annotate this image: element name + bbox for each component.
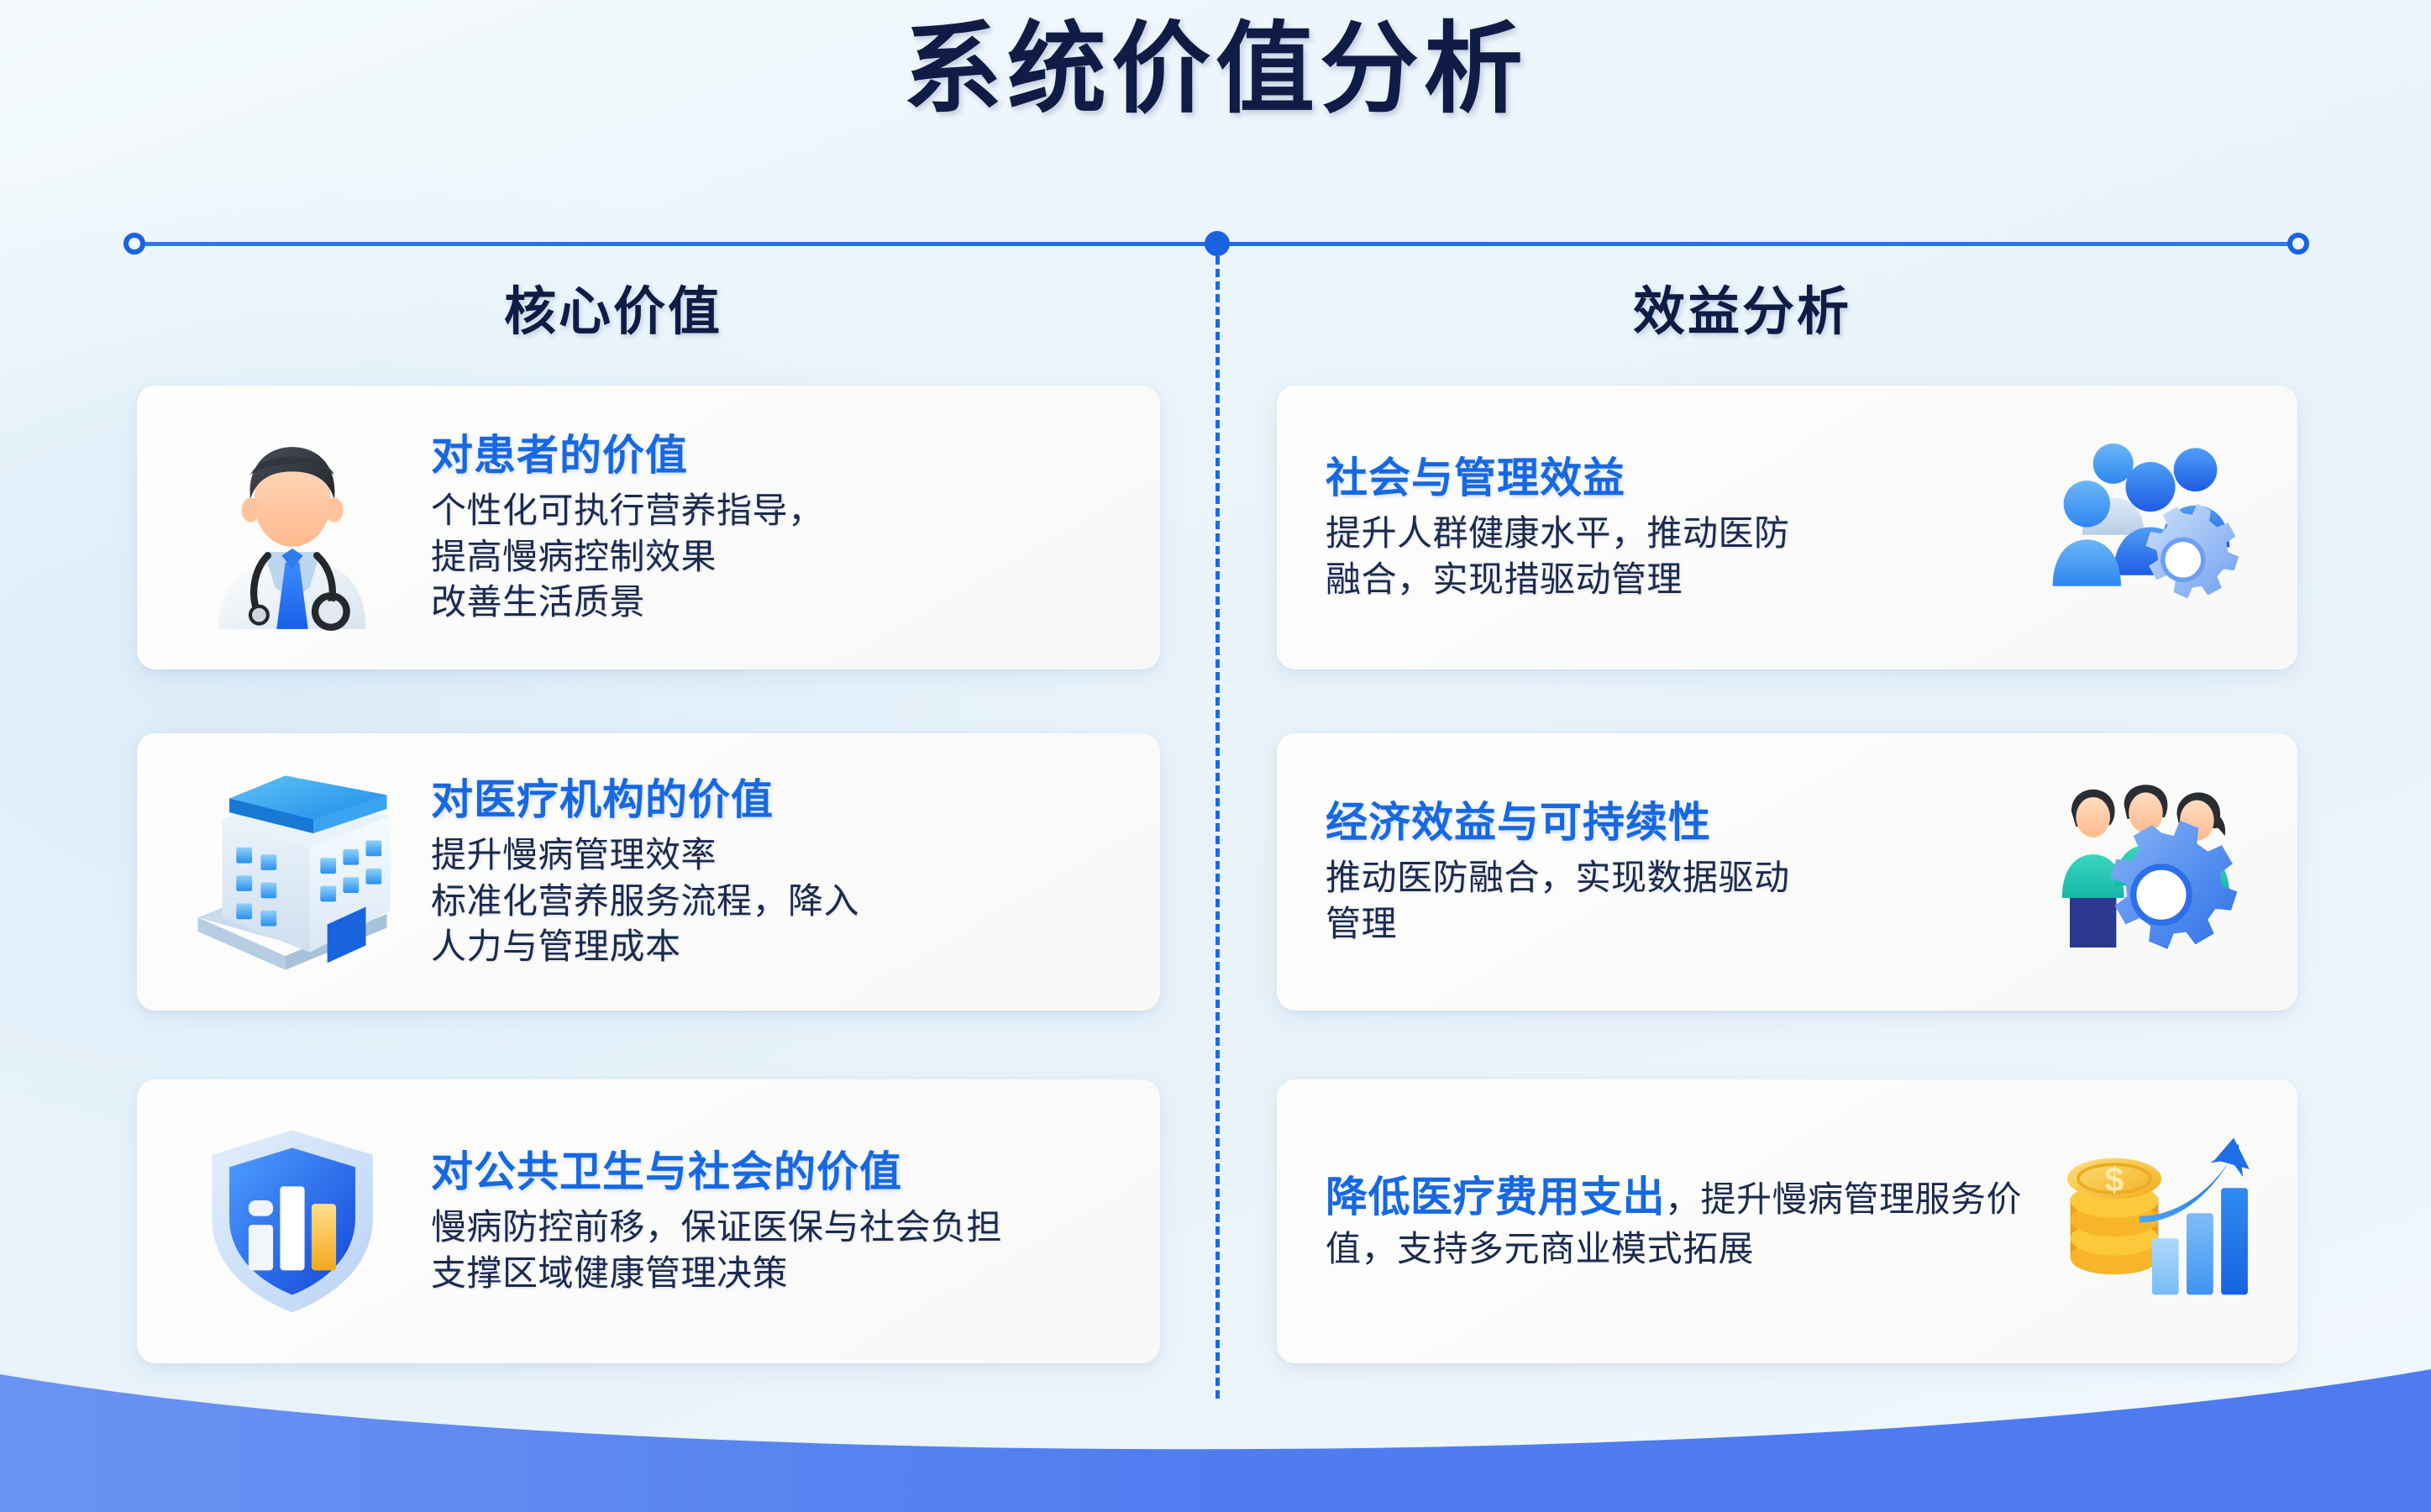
svg-text:$: $: [2105, 1160, 2124, 1199]
slide-canvas: 系统价值分析 核心价值 效益分析: [0, 0, 2431, 1512]
card-text: 降低医疗费用支出，提升慢病管理服务价值，支持多元商业模式拓展: [1277, 1169, 2037, 1273]
card-emphasis: 降低医疗费用支出: [1326, 1173, 1665, 1221]
coins-growth-icon: $: [2037, 1131, 2264, 1312]
rule-endpoint-left-icon: [123, 233, 145, 255]
card-line: 改善生活质景: [431, 580, 1143, 626]
card-text: 对公共卫生与社会的价值 慢病防控前移，保证医保与社会负担 支撑区域健康管理决策: [406, 1146, 1160, 1296]
card-line: 提升人群健康水平，推动医防: [1326, 511, 2037, 557]
card-title: 社会与管理效益: [1326, 452, 2037, 504]
card-title: 对医疗机构的价值: [431, 774, 1143, 826]
column-header-core-value: 核心价值: [504, 269, 722, 344]
column-header-benefit-analysis: 效益分析: [1633, 269, 1851, 344]
team-gear-icon: [2037, 782, 2264, 963]
card-institution-value[interactable]: 对医疗机构的价值 提升慢病管理效率 标准化营养服务流程，降入 人力与管理成本: [137, 733, 1160, 1011]
card-text: 对医疗机构的价值 提升慢病管理效率 标准化营养服务流程，降入 人力与管理成本: [406, 774, 1160, 970]
card-line: 人力与管理成本: [431, 924, 1143, 970]
card-line: 管理: [1326, 901, 2037, 948]
card-title: 经济效益与可持续性: [1326, 796, 2037, 848]
card-line: 提升慢病管理效率: [431, 832, 1143, 879]
card-text: 社会与管理效益 提升人群健康水平，推动医防 融合，实现措驱动管理: [1277, 452, 2037, 602]
column-divider: [1215, 256, 1220, 1399]
doctor-icon: [179, 423, 406, 633]
page-title: 系统价值分析: [0, 7, 2431, 134]
card-line: 融合，实现措驱动管理: [1326, 557, 2037, 603]
card-line: 支撑区域健康管理决策: [431, 1251, 1143, 1297]
card-line: 提高慢病控制效果: [431, 534, 1143, 580]
card-title: 对患者的价值: [431, 429, 1143, 481]
card-title: 对公共卫生与社会的价值: [431, 1146, 1143, 1198]
card-rich-text: 降低医疗费用支出，提升慢病管理服务价值，支持多元商业模式拓展: [1326, 1169, 2037, 1273]
card-line: 个性化可执行营养指导，: [431, 488, 1143, 534]
rule-endpoint-right-icon: [2287, 233, 2309, 255]
bottom-wave-decoration: [0, 1319, 2431, 1512]
card-text: 对患者的价值 个性化可执行营养指导， 提高慢病控制效果 改善生活质景: [406, 429, 1160, 626]
people-gear-icon: [2037, 438, 2264, 618]
card-line: 标准化营养服务流程，降入: [431, 879, 1143, 925]
card-text: 经济效益与可持续性 推动医防融合，实现数据驱动 管理: [1277, 796, 2037, 947]
card-patient-value[interactable]: 对患者的价值 个性化可执行营养指导， 提高慢病控制效果 改善生活质景: [137, 386, 1160, 669]
card-line: 慢病防控前移，保证医保与社会负担: [431, 1205, 1143, 1251]
rule-midpoint-icon: [1206, 233, 1228, 255]
card-economic-benefit[interactable]: 经济效益与可持续性 推动医防融合，实现数据驱动 管理: [1277, 733, 2297, 1011]
card-line: 推动医防融合，实现数据驱动: [1326, 855, 2037, 901]
card-social-management-benefit[interactable]: 社会与管理效益 提升人群健康水平，推动医防 融合，实现措驱动管理: [1277, 386, 2297, 669]
shield-chart-icon: [179, 1116, 406, 1326]
hospital-building-icon: [179, 767, 406, 977]
